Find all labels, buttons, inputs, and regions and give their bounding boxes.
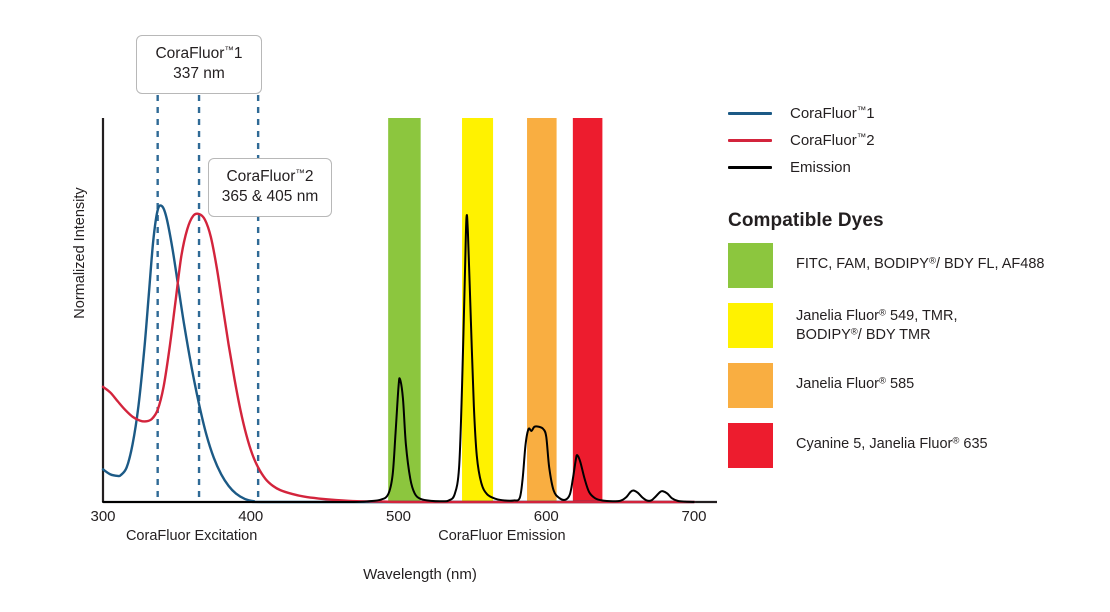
dye-label-text: / BDY FL, AF488 (936, 256, 1045, 272)
emission-band-layer (388, 118, 602, 502)
x-axis-sublabel-emission: CoraFluor Emission (402, 528, 602, 544)
legend-item-label: Emission (790, 159, 851, 176)
dye-item-2: Janelia Fluor® 549, TMR,BODIPY®/ BDY TMR (728, 303, 1098, 348)
orange-band (527, 118, 557, 502)
legend-label-text: CoraFluor (790, 132, 857, 149)
dye-label-text: Cyanine 5, Janelia Fluor (796, 436, 952, 452)
compatible-dyes-heading: Compatible Dyes (728, 210, 1098, 232)
trademark-symbol: ™ (857, 105, 867, 116)
trademark-symbol: ™ (224, 45, 234, 56)
trademark-symbol: ™ (857, 132, 867, 143)
registered-symbol: ® (929, 255, 936, 266)
dye-label: Cyanine 5, Janelia Fluor® 635 (796, 423, 988, 454)
red-band (573, 118, 603, 502)
x-tick-300: 300 (73, 508, 133, 525)
callout-1-suffix: 1 (234, 45, 243, 62)
legend-line-swatch (728, 139, 772, 142)
registered-symbol: ® (879, 307, 886, 318)
callout-corafluor-2: CoraFluor™2 365 & 405 nm (208, 158, 332, 217)
legend-item-2: CoraFluor™2 (728, 127, 1098, 154)
callout-2-suffix: 2 (305, 168, 314, 185)
legend-item-label: CoraFluor™2 (790, 132, 875, 149)
legend-item-label: CoraFluor™1 (790, 105, 875, 122)
dye-item-1: FITC, FAM, BODIPY®/ BDY FL, AF488 (728, 243, 1098, 288)
x-tick-400: 400 (221, 508, 281, 525)
dye-label: Janelia Fluor® 549, TMR,BODIPY®/ BDY TMR (796, 303, 957, 345)
x-axis-title: Wavelength (nm) (295, 566, 545, 583)
callout-1-wavelength: 337 nm (149, 64, 249, 84)
dye-label-text: Janelia Fluor (796, 308, 879, 324)
legend-and-dyes-panel: CoraFluor™1CoraFluor™2Emission Compatibl… (728, 100, 1098, 483)
dye-label-line: Cyanine 5, Janelia Fluor® 635 (796, 435, 988, 454)
legend-line-swatch (728, 112, 772, 115)
dye-label-line: Janelia Fluor® 549, TMR, (796, 307, 957, 326)
callout-1-name: CoraFluor (155, 45, 224, 62)
x-tick-600: 600 (516, 508, 576, 525)
dye-label-line: FITC, FAM, BODIPY®/ BDY FL, AF488 (796, 255, 1044, 274)
trademark-symbol: ™ (295, 168, 305, 179)
legend-label-text: CoraFluor (790, 105, 857, 122)
series-legend: CoraFluor™1CoraFluor™2Emission (728, 100, 1098, 181)
dye-label-text: Janelia Fluor (796, 376, 879, 392)
dye-label-text: / BDY TMR (858, 327, 931, 343)
dye-item-3: Janelia Fluor® 585 (728, 363, 1098, 408)
callout-2-title: CoraFluor™2 (221, 167, 319, 187)
legend-label-suffix: 1 (866, 105, 874, 122)
dye-label-text: 635 (959, 436, 987, 452)
dye-color-swatch (728, 303, 773, 348)
dye-label-line: BODIPY®/ BDY TMR (796, 326, 957, 345)
dye-label-text: BODIPY (796, 327, 851, 343)
yellow-band (462, 118, 493, 502)
y-axis-title: Normalized Intensity (72, 163, 88, 343)
legend-label-text: Emission (790, 159, 851, 176)
dye-label-text: FITC, FAM, BODIPY (796, 256, 929, 272)
callout-corafluor-1: CoraFluor™1 337 nm (136, 35, 262, 94)
legend-label-suffix: 2 (866, 132, 874, 149)
registered-symbol: ® (851, 326, 858, 337)
callout-1-title: CoraFluor™1 (149, 44, 249, 64)
legend-item-3: Emission (728, 154, 1098, 181)
legend-line-swatch (728, 166, 772, 169)
x-axis-sublabel-excitation: CoraFluor Excitation (92, 528, 292, 544)
spectra-figure: CoraFluor™1 337 nm CoraFluor™2 365 & 405… (0, 0, 1110, 612)
compatible-dyes-list: FITC, FAM, BODIPY®/ BDY FL, AF488Janelia… (728, 243, 1098, 468)
dye-label: FITC, FAM, BODIPY®/ BDY FL, AF488 (796, 243, 1044, 274)
registered-symbol: ® (879, 375, 886, 386)
dye-color-swatch (728, 423, 773, 468)
dye-item-4: Cyanine 5, Janelia Fluor® 635 (728, 423, 1098, 468)
callout-2-wavelength: 365 & 405 nm (221, 187, 319, 207)
x-tick-700: 700 (664, 508, 724, 525)
dye-color-swatch (728, 363, 773, 408)
x-tick-500: 500 (369, 508, 429, 525)
green-band (388, 118, 421, 502)
legend-item-1: CoraFluor™1 (728, 100, 1098, 127)
dye-label: Janelia Fluor® 585 (796, 363, 914, 394)
dye-color-swatch (728, 243, 773, 288)
dye-label-text: 549, TMR, (886, 308, 957, 324)
callout-2-name: CoraFluor (226, 168, 295, 185)
dye-label-line: Janelia Fluor® 585 (796, 375, 914, 394)
dye-label-text: 585 (886, 376, 914, 392)
